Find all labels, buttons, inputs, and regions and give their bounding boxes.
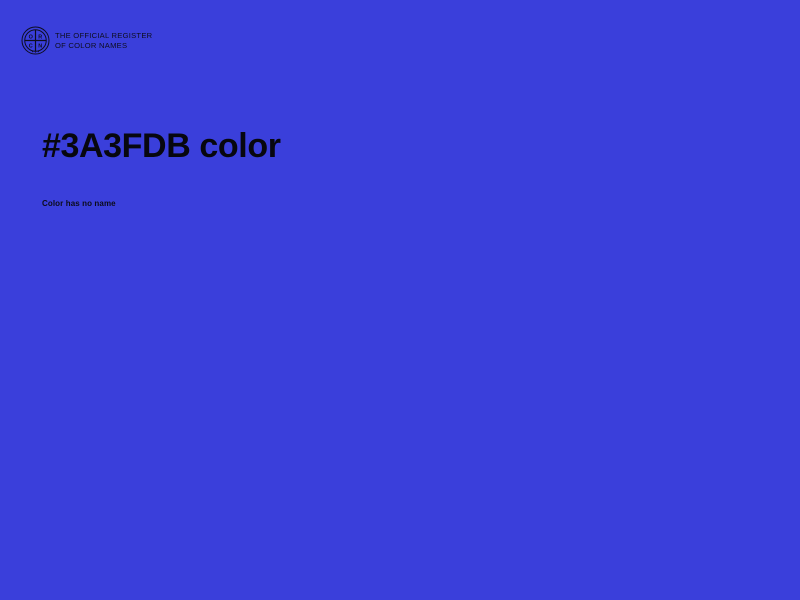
brand-wordmark: THE OFFICIAL REGISTER OF COLOR NAMES (55, 31, 152, 50)
page-title: #3A3FDB color (42, 124, 758, 168)
color-page: O R C N THE OFFICIAL REGISTER OF COLOR N… (0, 0, 800, 600)
register-seal-icon: O R C N (21, 26, 50, 55)
svg-text:C: C (29, 43, 33, 49)
brand-wordmark-line-2: OF COLOR NAMES (55, 41, 152, 50)
svg-text:O: O (29, 34, 34, 40)
brand-wordmark-line-1: THE OFFICIAL REGISTER (55, 31, 152, 40)
brand-logo[interactable]: O R C N THE OFFICIAL REGISTER OF COLOR N… (21, 26, 152, 55)
svg-text:N: N (38, 43, 42, 49)
svg-text:R: R (38, 34, 42, 40)
color-info: #3A3FDB color Color has no name (42, 124, 758, 209)
color-name-status: Color has no name (42, 168, 758, 209)
